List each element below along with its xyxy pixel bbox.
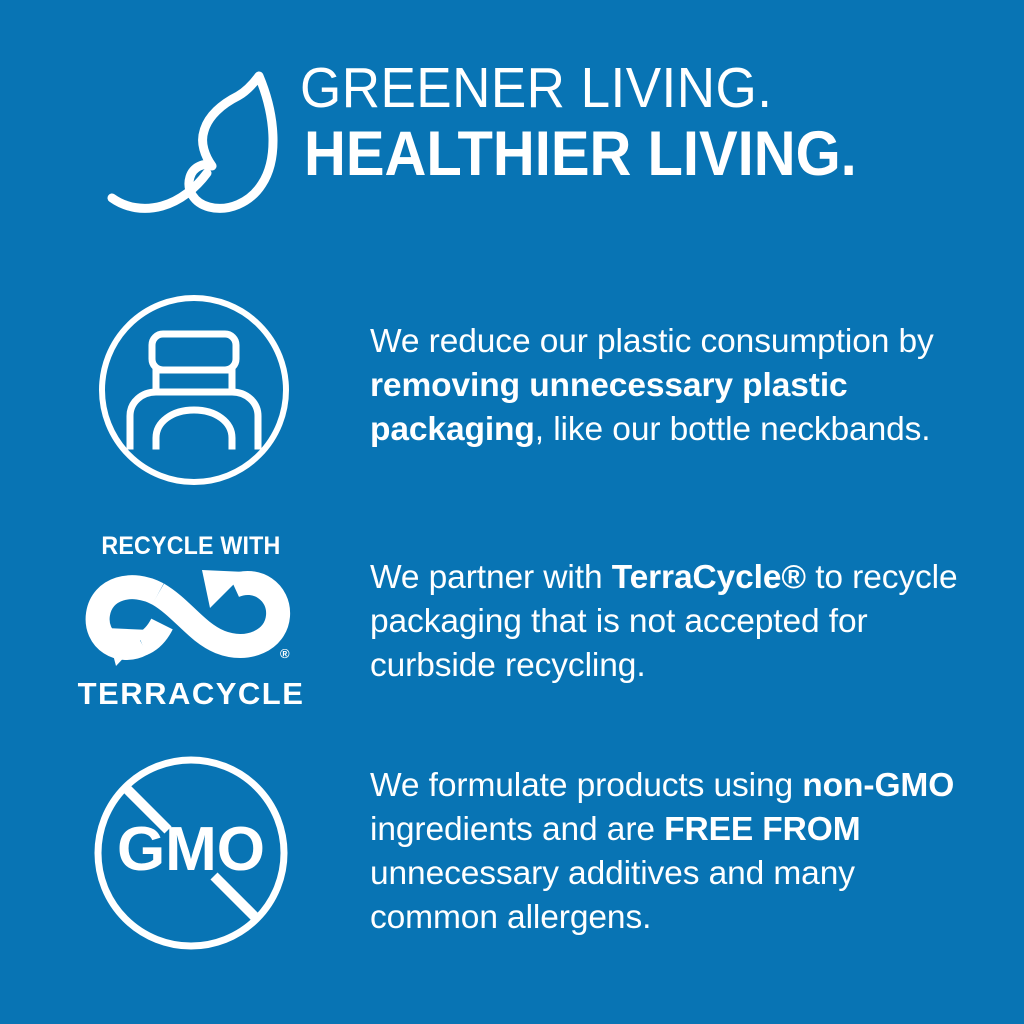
rich-text: We formulate products using non-GMO ingr… — [370, 767, 954, 936]
gmo-label: GMO — [117, 815, 265, 884]
terracycle-top-label: RECYCLE WITH — [101, 532, 280, 560]
terracycle-registered-mark: ® — [280, 646, 290, 661]
greener-living-infographic: GREENER LIVING. HEALTHIER LIVING. We red… — [0, 0, 1024, 1024]
body-text: ingredients and are — [370, 811, 664, 848]
body-text: We formulate products using — [370, 767, 802, 804]
body-text: We partner with — [370, 559, 612, 596]
body-text: unnecessary additives and many common al… — [370, 855, 855, 936]
headline-primary: GREENER LIVING. — [300, 58, 951, 118]
benefit-text-plastic-reduction: We reduce our plastic consumption by rem… — [370, 320, 990, 452]
leaf-icon — [104, 66, 284, 221]
benefit-text-terracycle: We partner with TerraCycle® to recycle p… — [370, 556, 990, 688]
body-text: We reduce our plastic consumption by — [370, 323, 934, 360]
emphasis-text: non-GMO — [802, 767, 954, 804]
emphasis-text: FREE FROM — [664, 811, 860, 848]
rich-text: We reduce our plastic consumption by rem… — [370, 323, 934, 448]
emphasis-text: TerraCycle® — [612, 559, 806, 596]
terracycle-bottom-label: TERRACYCLE — [78, 676, 305, 711]
no-gmo-icon: GMO — [92, 754, 290, 952]
header: GREENER LIVING. HEALTHIER LIVING. — [0, 58, 1024, 228]
header-text-block: GREENER LIVING. HEALTHIER LIVING. — [300, 58, 1000, 188]
bottle-neckband-icon — [96, 292, 292, 488]
benefit-row-non-gmo: GMO We formulate products using non-GMO … — [0, 752, 1024, 957]
rich-text: We partner with TerraCycle® to recycle p… — [370, 559, 958, 684]
infinity-loop — [98, 570, 279, 666]
body-text: , like our bottle neckbands. — [535, 411, 931, 448]
headline-secondary: HEALTHIER LIVING. — [304, 120, 944, 188]
benefit-row-plastic-reduction: We reduce our plastic consumption by rem… — [0, 292, 1024, 497]
terracycle-logo: RECYCLE WITH ® TERRACYCLE — [84, 532, 299, 712]
benefit-row-terracycle: RECYCLE WITH ® TERRACYCLE We partne — [0, 530, 1024, 715]
benefit-text-non-gmo: We formulate products using non-GMO ingr… — [370, 764, 990, 940]
